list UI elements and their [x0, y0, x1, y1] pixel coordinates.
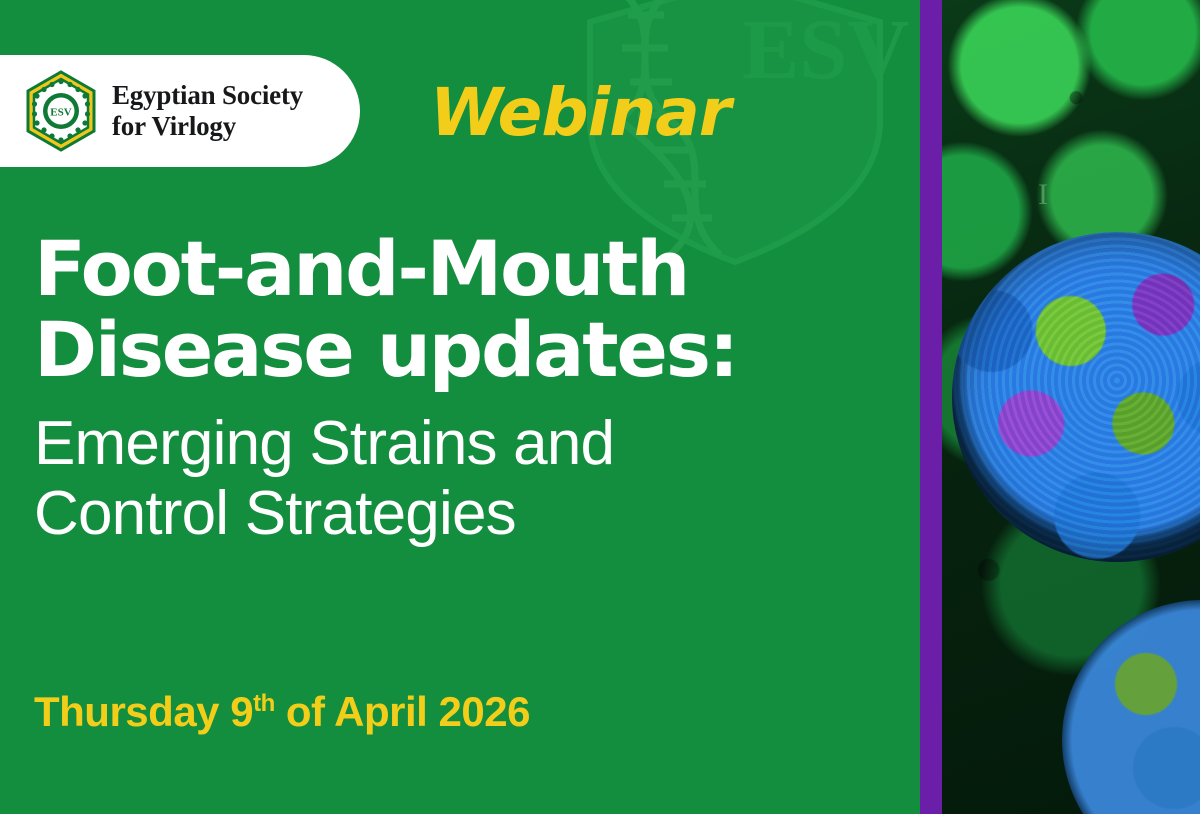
subtitle-line-1: Emerging Strains and [34, 409, 914, 480]
title-line-1: Foot-and-Mouth [34, 228, 914, 309]
title-line-2: Disease updates: [34, 309, 914, 390]
virus-artwork-panel: I [942, 0, 1200, 814]
event-date-suffix: of April 2026 [275, 688, 530, 735]
green-background-panel: ESV ESV [0, 0, 920, 814]
page-subtitle: Emerging Strains and Control Strategies [34, 409, 914, 550]
eyebrow-webinar-label: Webinar [430, 74, 730, 151]
organization-name-line1: Egyptian Society [112, 80, 303, 111]
artwork-caption-letter: I [1038, 178, 1048, 212]
title-block: Foot-and-Mouth Disease updates: Emerging… [34, 228, 914, 550]
logo-badge-text: ESV [50, 107, 71, 119]
webinar-poster: ESV ESV [0, 0, 1200, 814]
subtitle-line-2: Control Strategies [34, 479, 914, 550]
organization-logo-pill: ESV Egyptian Society f [0, 55, 360, 167]
organization-name-line2: for Virlogy [112, 111, 303, 142]
organization-name: Egyptian Society for Virlogy [112, 80, 303, 143]
esv-hexagon-logo-icon: ESV [22, 69, 100, 153]
event-date: Thursday 9th of April 2026 [34, 688, 530, 736]
page-title: Foot-and-Mouth Disease updates: [34, 228, 914, 391]
event-date-prefix: Thursday 9 [34, 688, 253, 735]
event-date-ordinal: th [253, 690, 275, 717]
purple-divider-strip [920, 0, 942, 814]
svg-text:ESV: ESV [742, 1, 909, 97]
